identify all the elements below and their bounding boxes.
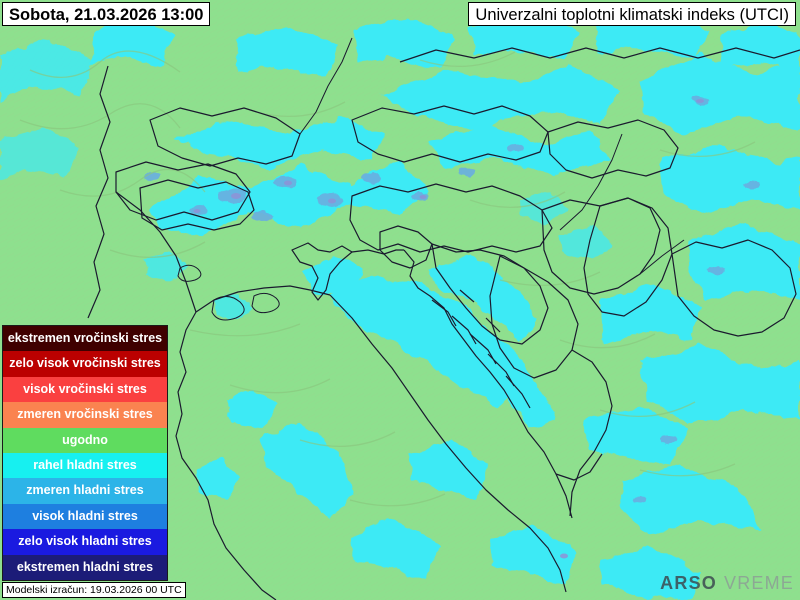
legend-item: ekstremen hladni stres: [3, 555, 167, 580]
legend-item: zmeren vročinski stres: [3, 402, 167, 427]
utci-legend: ekstremen vročinski streszelo visok vroč…: [2, 325, 168, 581]
legend-item: zelo visok vročinski stres: [3, 351, 167, 376]
arso-vreme-watermark: ARSOVREME: [660, 573, 794, 594]
watermark-arso-text: ARSO: [660, 573, 717, 593]
legend-item: ekstremen vročinski stres: [3, 326, 167, 351]
model-run-label: Modelski izračun: 19.03.2026 00 UTC: [2, 582, 186, 598]
datetime-title: Sobota, 21.03.2026 13:00: [2, 2, 210, 26]
legend-item: zmeren hladni stres: [3, 478, 167, 503]
utci-map-screenshot: Sobota, 21.03.2026 13:00 Univerzalni top…: [0, 0, 800, 600]
legend-item: visok vročinski stres: [3, 377, 167, 402]
watermark-vreme-text: VREME: [724, 573, 794, 593]
legend-item: rahel hladni stres: [3, 453, 167, 478]
legend-item: zelo visok hladni stres: [3, 529, 167, 554]
legend-item: ugodno: [3, 428, 167, 453]
product-title: Univerzalni toplotni klimatski indeks (U…: [468, 2, 796, 26]
legend-item: visok hladni stres: [3, 504, 167, 529]
